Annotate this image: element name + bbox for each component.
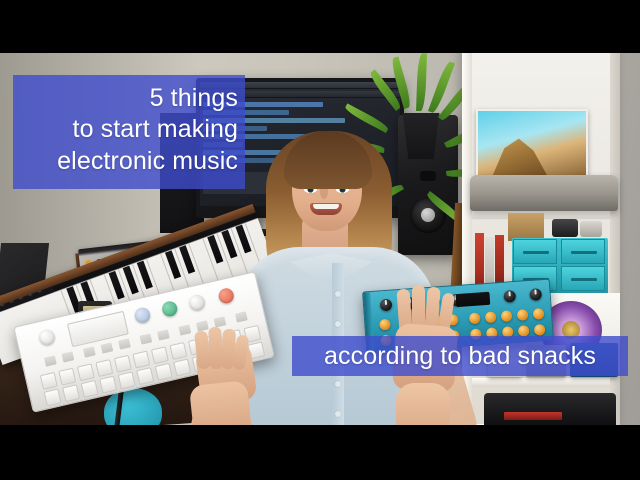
- credit-line: according to bad snacks: [324, 342, 596, 371]
- title-line-3: electronic music: [57, 146, 238, 178]
- credit-overlay: according to bad snacks: [292, 336, 628, 376]
- title-line-2: to start making: [73, 114, 238, 146]
- printer: [470, 175, 618, 211]
- title-line-1: 5 things: [150, 83, 238, 115]
- letterbox-bottom: [0, 425, 640, 480]
- letterbox-top: [0, 0, 640, 53]
- shelf-clutter: [552, 219, 578, 237]
- video-thumbnail: 5 things to start making electronic musi…: [0, 0, 640, 480]
- album-poster: [476, 109, 588, 177]
- black-hard-case: [484, 393, 616, 425]
- mouth: [310, 203, 342, 215]
- shelf-clutter-2: [580, 221, 602, 237]
- title-overlay: 5 things to start making electronic musi…: [13, 75, 245, 189]
- cardboard-box: [508, 213, 544, 241]
